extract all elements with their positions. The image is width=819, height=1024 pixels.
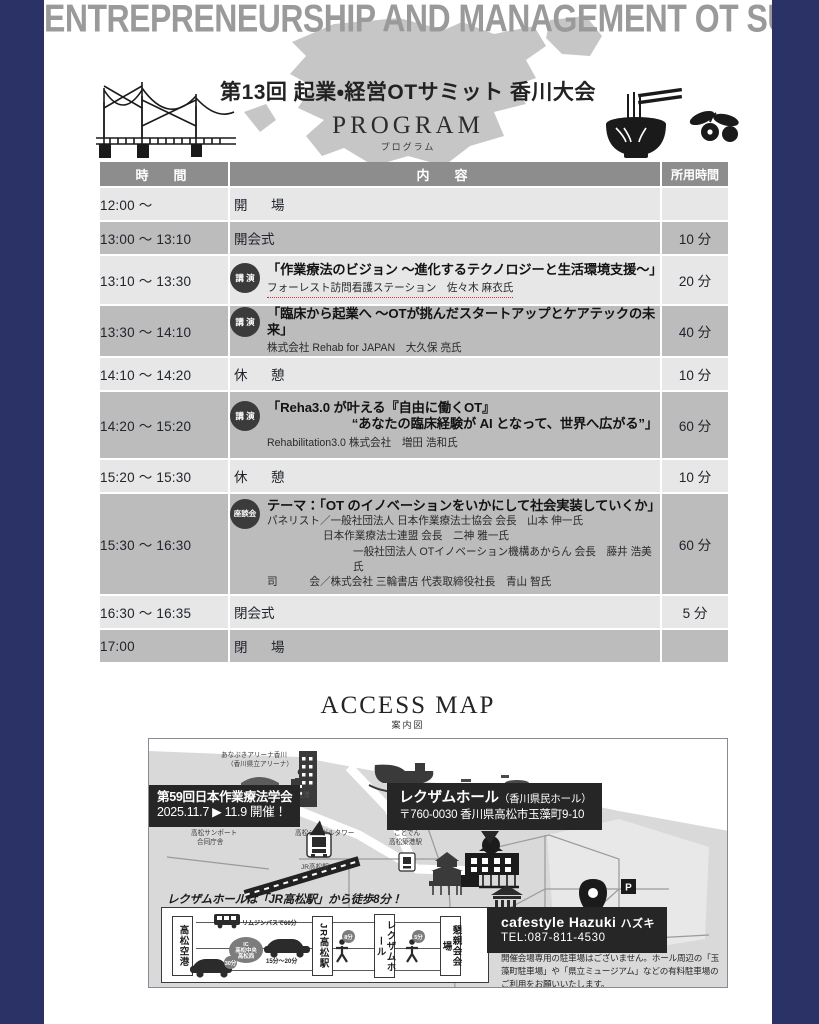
- row-duration: 40 分: [662, 306, 728, 356]
- row-content: 閉会式: [230, 596, 660, 628]
- lecture-title: 「Reha3.0 が叶える『自由に働くOT』: [267, 400, 660, 416]
- row-content: 開 場: [230, 188, 660, 220]
- kotoden-station-icon: [399, 853, 415, 871]
- svg-text:P: P: [625, 883, 632, 894]
- route-badge-30min: 30分: [224, 956, 237, 969]
- table-row: 13:30 ～ 14:10 講 演 「臨床から起業へ ～OTが挑んだスタートアッ…: [100, 306, 728, 356]
- svg-text:あなぶきアリーナ香川: あなぶきアリーナ香川: [221, 750, 287, 759]
- table-row: 17:00 閉 場: [100, 630, 728, 662]
- parking-icon: P: [621, 879, 636, 894]
- table-row: 16:30 ～ 16:35 閉会式 5 分: [100, 596, 728, 628]
- svg-text:ことでん: ことでん: [394, 829, 421, 837]
- row-content: 講 演 「Reha3.0 が叶える『自由に働くOT』 “あなたの臨床経験が AI…: [230, 392, 660, 458]
- table-row: 15:20 ～ 15:30 休 憩 10 分: [100, 460, 728, 492]
- row-time: 16:30 ～ 16:35: [100, 596, 228, 628]
- row-time: 15:30 ～ 16:30: [100, 494, 228, 594]
- table-header-row: 時 間 内 容 所用時間: [100, 162, 728, 186]
- route-leg-bus-label: リムジンバスで60分: [242, 918, 297, 927]
- table-row: 13:00 ～ 13:10 開会式 10 分: [100, 222, 728, 254]
- program-kana: プログラム: [44, 140, 772, 153]
- parking-body: 開催会場専用の駐車場はございません。ホール周辺の「玉藻町駐車場」や「県立ミュージ…: [501, 952, 723, 988]
- panel-moderator: 司 会／株式会社 三輪書店 代表取締役社長 青山 智氏: [267, 575, 660, 590]
- lecture-title: 「臨床から起業へ ～OTが挑んだスタートアップとケアテックの未来」: [267, 306, 660, 338]
- row-duration: [662, 630, 728, 662]
- table-row: 14:20 ～ 15:20 講 演 「Reha3.0 が叶える『自由に働くOT』…: [100, 392, 728, 458]
- program-table-wrap: 時 間 内 容 所用時間 12:00 ～ 開 場 13:00 ～ 13: [98, 160, 728, 664]
- panel-theme: テーマ：「OT のイノベーションをいかにして社会実装していくか」: [267, 498, 660, 514]
- callout-cafe-tel: TEL:087-811-4530: [501, 931, 655, 946]
- route-badge-8min: 8分: [342, 930, 355, 943]
- callout-hall-tail: [481, 831, 499, 844]
- callout-gakkai: 第59回日本作業療法学会 2025.11.7 ▶ 11.9 開催！: [149, 785, 300, 827]
- svg-text:（香川県立アリーナ）: （香川県立アリーナ）: [227, 759, 293, 768]
- row-duration: 5 分: [662, 596, 728, 628]
- row-duration: 10 分: [662, 460, 728, 492]
- row-content-text: 閉会式: [230, 602, 660, 622]
- event-title: 第13回 起業・経営OTサミット 香川大会: [44, 76, 772, 106]
- row-content: 講 演 「作業療法のビジョン ～進化するテクノロジーと生活環境支援～」 フォーレ…: [230, 256, 660, 304]
- row-time: 14:10 ～ 14:20: [100, 358, 228, 390]
- row-time: 13:00 ～ 13:10: [100, 222, 228, 254]
- callout-gakkai-line1: 第59回日本作業療法学会: [157, 790, 292, 805]
- callout-cafe: cafestyle Hazuki ハズキ TEL:087-811-4530: [487, 907, 667, 953]
- lecture-speaker: 株式会社 Rehab for JAPAN 大久保 亮氏: [267, 341, 462, 355]
- table-row: 14:10 ～ 14:20 休 憩 10 分: [100, 358, 728, 390]
- access-map-kana: 案内図: [44, 718, 772, 731]
- callout-hall: レクザムホール（香川県民ホール） 〒760-0030 香川県高松市玉藻町9-10: [387, 783, 602, 830]
- row-time: 12:00 ～: [100, 188, 228, 220]
- banner-headline: ENTREPRENEURSHIP AND MANAGEMENT OT SUMMI…: [44, 0, 772, 41]
- poster-page: ENTREPRENEURSHIP AND MANAGEMENT OT SUMMI…: [0, 0, 819, 1024]
- callout-gakkai-line2: 2025.11.7 ▶ 11.9 開催！: [157, 805, 292, 820]
- walk-note: レクザムホールは「JR高松駅」から徒歩8分！: [167, 891, 402, 907]
- badge-talk: 講 演: [230, 401, 260, 431]
- row-time: 14:20 ～ 15:20: [100, 392, 228, 458]
- row-duration: 20 分: [662, 256, 728, 304]
- poster-sheet: ENTREPRENEURSHIP AND MANAGEMENT OT SUMMI…: [44, 0, 772, 1024]
- table-row: 12:00 ～ 開 場: [100, 188, 728, 220]
- svg-text:高松西: 高松西: [238, 952, 255, 960]
- row-duration: 60 分: [662, 392, 728, 458]
- panel-member-2: 一般社団法人 OTイノベーション機構あからん 会長 藤井 浩美氏: [267, 545, 660, 576]
- row-duration: 60 分: [662, 494, 728, 594]
- row-duration: 10 分: [662, 358, 728, 390]
- col-header-time: 時 間: [100, 162, 228, 186]
- row-duration: 10 分: [662, 222, 728, 254]
- access-map[interactable]: P あなぶきアリーナ香川 （香川県立アリーナ） 高松港 高松サンポート 合同庁舎…: [148, 738, 728, 988]
- col-header-duration: 所用時間: [662, 162, 728, 186]
- callout-cafe-name: cafestyle Hazuki ハズキ: [501, 913, 655, 931]
- row-content-text: 開会式: [230, 228, 660, 248]
- badge-talk: 講 演: [230, 307, 260, 337]
- callout-hall-address: 〒760-0030 香川県高松市玉藻町9-10: [399, 808, 592, 823]
- lecture-title-line2: “あなたの臨床経験が AI となって、世界へ広がる”」: [267, 416, 660, 433]
- lecture-speaker: Rehabilitation3.0 株式会社 増田 浩和氏: [267, 436, 458, 450]
- table-row: 15:30 ～ 16:30 座談会 テーマ：「OT のイノベーションをいかにして…: [100, 494, 728, 594]
- callout-hall-name-main: レクザムホール: [399, 790, 499, 806]
- badge-talk: 講 演: [230, 263, 260, 293]
- callout-hall-name: レクザムホール（香川県民ホール）: [399, 789, 592, 808]
- row-time: 13:10 ～ 13:30: [100, 256, 228, 304]
- row-content: 座談会 テーマ：「OT のイノベーションをいかにして社会実装していくか」 パネリ…: [230, 494, 660, 594]
- table-row: 13:10 ～ 13:30 講 演 「作業療法のビジョン ～進化するテクノロジー…: [100, 256, 728, 304]
- row-content: 休 憩: [230, 460, 660, 492]
- route-badge-5min: 5分: [412, 930, 425, 943]
- row-time: 15:20 ～ 15:30: [100, 460, 228, 492]
- svg-text:高松中央: 高松中央: [235, 946, 257, 954]
- svg-text:合同庁舎: 合同庁舎: [197, 837, 224, 846]
- svg-text:JR高松駅: JR高松駅: [301, 862, 329, 871]
- col-header-content: 内 容: [230, 162, 660, 186]
- row-content: 休 憩: [230, 358, 660, 390]
- lecture-title: 「作業療法のビジョン ～進化するテクノロジーと生活環境支援～」: [267, 262, 660, 278]
- badge-panel: 座談会: [230, 499, 260, 529]
- row-content: 講 演 「臨床から起業へ ～OTが挑んだスタートアップとケアテックの未来」 株式…: [230, 306, 660, 356]
- row-content-text: 開 場: [230, 194, 660, 214]
- callout-cafe-name-sub: ハズキ: [621, 918, 655, 930]
- row-content-text: 休 憩: [230, 466, 660, 486]
- access-map-title: ACCESS MAP: [44, 692, 772, 720]
- route-icons: IC 高松中央 高松西: [162, 908, 490, 984]
- row-content-text: 休 憩: [230, 364, 660, 384]
- panel-member-0: パネリスト／一般社団法人 日本作業療法士協会 会長 山本 伸一氏: [267, 514, 660, 529]
- route-diagram: 高松空港 JR高松駅 レクザムホール 懇親会会場: [161, 907, 489, 983]
- car-icon-1: [264, 939, 310, 958]
- row-time: 17:00: [100, 630, 228, 662]
- program-table: 時 間 内 容 所用時間 12:00 ～ 開 場 13:00 ～ 13: [98, 160, 730, 664]
- route-leg-car-label: 15分～20分: [266, 956, 297, 965]
- callout-hall-name-sub: （香川県民ホール）: [499, 793, 592, 805]
- lecture-speaker: フォーレスト訪問看護ステーション 佐々木 麻衣氏: [267, 281, 513, 297]
- row-time: 13:30 ～ 14:10: [100, 306, 228, 356]
- callout-cafe-name-main: cafestyle Hazuki: [501, 914, 616, 930]
- program-word: PROGRAM: [44, 112, 772, 140]
- panel-member-1: 日本作業療法士連盟 会長 二神 雅一氏: [267, 529, 660, 544]
- row-content-text: 閉 場: [230, 636, 660, 656]
- row-content: 閉 場: [230, 630, 660, 662]
- row-duration: [662, 188, 728, 220]
- svg-text:高松サンポート: 高松サンポート: [191, 828, 237, 837]
- row-content: 開会式: [230, 222, 660, 254]
- svg-text:高松築港駅: 高松築港駅: [389, 837, 422, 846]
